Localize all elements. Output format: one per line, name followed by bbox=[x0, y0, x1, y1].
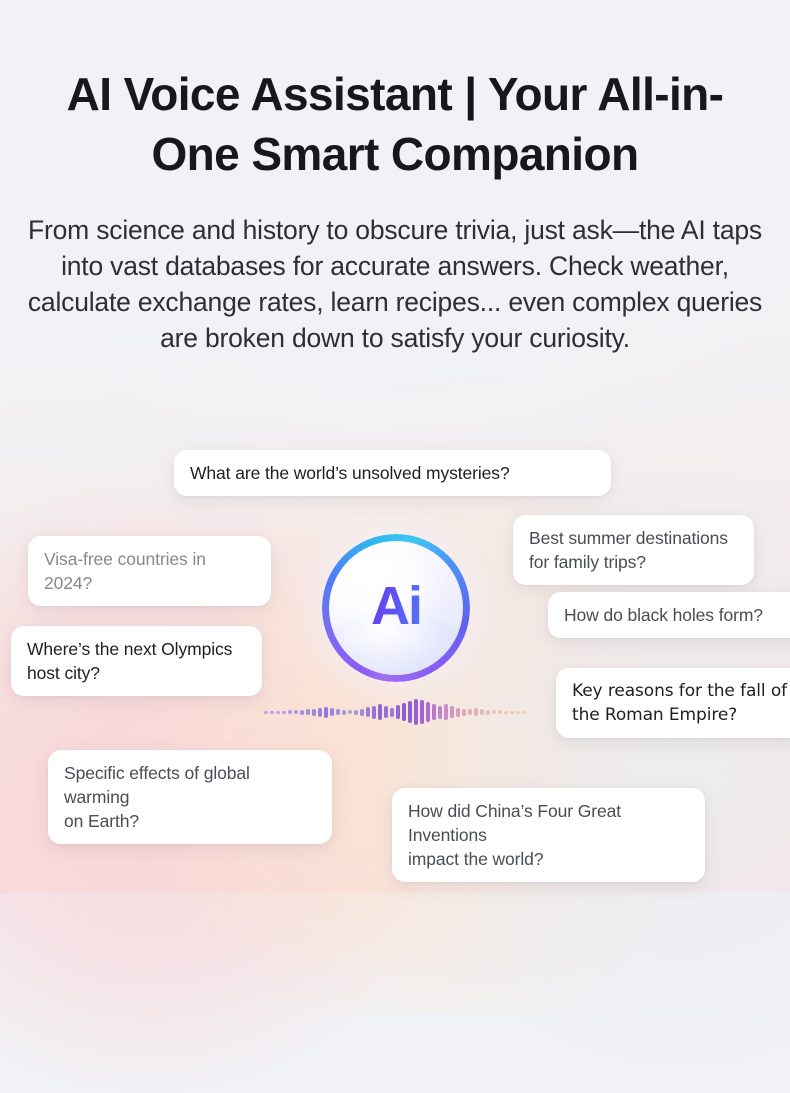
waveform-bar bbox=[276, 711, 280, 714]
waveform-bar bbox=[264, 711, 268, 714]
waveform-bar bbox=[414, 699, 418, 725]
suggestion-bubble[interactable]: How did China’s Four Great Inventions im… bbox=[392, 788, 705, 882]
waveform-bar bbox=[324, 707, 328, 718]
waveform-bar bbox=[330, 708, 334, 716]
waveform-bar bbox=[300, 710, 304, 715]
waveform-bar bbox=[444, 704, 448, 720]
waveform-bar bbox=[420, 700, 424, 724]
waveform-bar bbox=[396, 705, 400, 719]
assistant-stage: Ai What are the world’s unsolved mysteri… bbox=[0, 0, 790, 893]
waveform-bar bbox=[510, 711, 514, 714]
waveform-bar bbox=[492, 710, 496, 714]
waveform-bar bbox=[498, 710, 502, 714]
waveform-bar bbox=[336, 709, 340, 715]
waveform-bar bbox=[438, 706, 442, 719]
waveform-bar bbox=[306, 709, 310, 715]
waveform-bar bbox=[282, 711, 286, 714]
waveform-bar bbox=[480, 709, 484, 715]
suggestion-bubble[interactable]: Best summer destinations for family trip… bbox=[513, 515, 754, 585]
voice-waveform bbox=[264, 698, 526, 726]
waveform-bar bbox=[408, 701, 412, 723]
waveform-bar bbox=[504, 711, 508, 714]
waveform-bar bbox=[288, 710, 292, 714]
waveform-bar bbox=[372, 706, 376, 719]
waveform-bar bbox=[516, 711, 520, 714]
waveform-bar bbox=[348, 710, 352, 714]
waveform-bar bbox=[294, 710, 298, 714]
waveform-bar bbox=[318, 708, 322, 717]
waveform-bar bbox=[402, 703, 406, 721]
waveform-bar bbox=[432, 704, 436, 720]
suggestion-bubble[interactable]: Specific effects of global warming on Ea… bbox=[48, 750, 332, 844]
suggestion-bubble[interactable]: Key reasons for the fall of the Roman Em… bbox=[556, 668, 790, 738]
waveform-bar bbox=[354, 710, 358, 715]
waveform-bar bbox=[522, 711, 526, 714]
waveform-bar bbox=[366, 707, 370, 717]
waveform-bar bbox=[456, 708, 460, 717]
suggestion-bubble[interactable]: Visa-free countries in 2024? bbox=[28, 536, 271, 606]
waveform-bar bbox=[342, 710, 346, 715]
waveform-bar bbox=[360, 709, 364, 716]
waveform-bar bbox=[468, 709, 472, 715]
ai-orb[interactable]: Ai bbox=[322, 534, 470, 682]
waveform-bar bbox=[384, 706, 388, 718]
waveform-bar bbox=[486, 710, 490, 715]
waveform-bar bbox=[462, 709, 466, 716]
waveform-bar bbox=[474, 708, 478, 716]
suggestion-bubble[interactable]: What are the world’s unsolved mysteries? bbox=[174, 450, 611, 496]
ai-logo-text: Ai bbox=[322, 534, 470, 682]
waveform-bar bbox=[378, 704, 382, 720]
waveform-bar bbox=[426, 702, 430, 722]
waveform-bar bbox=[450, 706, 454, 718]
waveform-bar bbox=[270, 711, 274, 714]
waveform-bar bbox=[390, 708, 394, 717]
suggestion-bubble[interactable]: How do black holes form? bbox=[548, 592, 790, 638]
suggestion-bubble[interactable]: Where’s the next Olympics host city? bbox=[11, 626, 262, 696]
waveform-bar bbox=[312, 709, 316, 716]
